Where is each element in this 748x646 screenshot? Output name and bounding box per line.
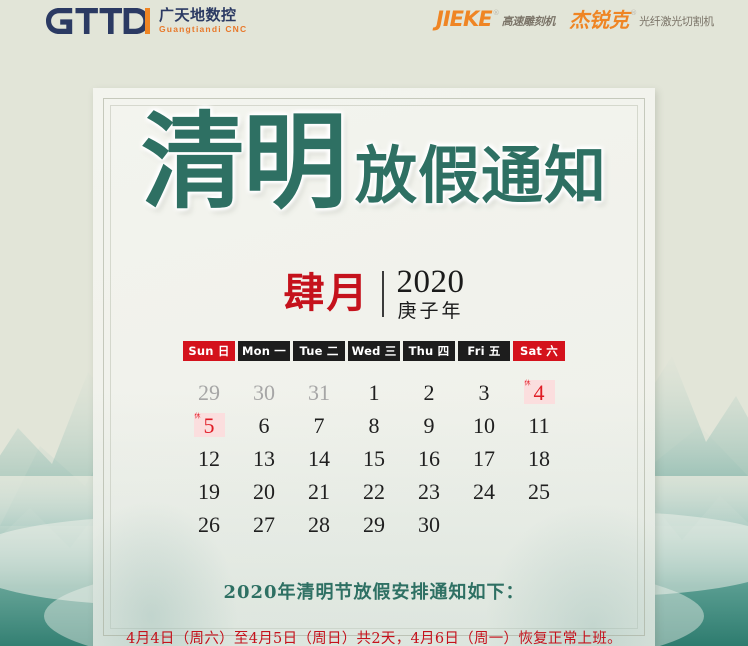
calendar-weekday-header: Sun 日Mon 一Tue 二Wed 三Thu 四Fri 五Sat 六 — [93, 341, 655, 361]
calendar-day-number: 29 — [363, 512, 385, 538]
month-cn-label: 肆月 — [284, 273, 370, 314]
jieruike-wordmark: 杰锐克 — [569, 11, 629, 30]
calendar-day-number: 2 — [424, 380, 435, 406]
calendar-day-cell[interactable]: 22 — [347, 479, 402, 505]
jieke-tagline: 高速雕刻机 — [502, 13, 556, 29]
calendar-day-cell[interactable]: 12 — [182, 446, 237, 472]
calendar-day-number: 20 — [253, 479, 275, 505]
gtdi-en-name: Guangtiandi CNC — [159, 25, 247, 34]
weekday-header-6: Sat 六 — [513, 341, 565, 361]
calendar-day-number: 1 — [369, 380, 380, 406]
calendar-day-number: 30 — [418, 512, 440, 538]
calendar-day-number: 22 — [363, 479, 385, 505]
calendar-day-number: 30 — [253, 380, 275, 406]
jieruike-tagline: 光纤激光切割机 — [639, 13, 714, 29]
month-divider — [382, 271, 384, 317]
partner-logos: JIEKE ® 高速雕刻机 杰锐克 ® 光纤激光切割机 — [436, 10, 714, 30]
calendar-week-row: 2627282930 — [182, 512, 567, 545]
calendar-day-cell[interactable]: 31 — [292, 380, 347, 406]
calendar-day-number: 18 — [528, 446, 550, 472]
calendar-day-cell[interactable]: 17 — [457, 446, 512, 472]
calendar-day-cell[interactable]: 7 — [292, 413, 347, 439]
month-bar: 肆月 2020 庚子年 — [93, 266, 655, 321]
calendar-day-number: 13 — [253, 446, 275, 472]
jieke-logo[interactable]: JIEKE ® 高速雕刻机 — [436, 10, 555, 30]
gtdi-logo[interactable]: 广天地数控 Guangtiandi CNC — [46, 8, 247, 34]
calendar-day-number: 11 — [528, 413, 549, 439]
calendar-day-number: 26 — [198, 512, 220, 538]
calendar-day-cell[interactable]: 26 — [182, 512, 237, 538]
calendar-day-cell[interactable]: 10 — [457, 413, 512, 439]
calendar-day-number: 5 — [204, 413, 215, 439]
calendar-day-cell[interactable]: 24 — [457, 479, 512, 505]
calendar-day-number: 8 — [369, 413, 380, 439]
calendar-day-number: 25 — [528, 479, 550, 505]
registered-mark-icon: ® — [493, 9, 500, 17]
calendar-day-number: 4 — [534, 380, 545, 406]
calendar-day-number: 10 — [473, 413, 495, 439]
calendar-day-number: 6 — [259, 413, 270, 439]
notice-heading: 2020年清明节放假安排通知如下： — [93, 578, 655, 604]
calendar-day-cell[interactable]: 11 — [512, 413, 567, 439]
year-block: 2020 庚子年 — [397, 266, 465, 321]
calendar-week-row: 休567891011 — [182, 413, 567, 446]
calendar-day-cell[interactable]: 25 — [512, 479, 567, 505]
ganzhi-label: 庚子年 — [397, 302, 463, 321]
headline-primary: 清明 — [141, 110, 345, 214]
poster-stage: 清明 放假通知 肆月 2020 庚子年 Sun 日Mon 一Tue 二Wed 三… — [0, 56, 748, 646]
calendar-day-number: 21 — [308, 479, 330, 505]
weekday-header-0: Sun 日 — [183, 341, 235, 361]
calendar-day-number: 29 — [198, 380, 220, 406]
calendar-day-number: 3 — [479, 380, 490, 406]
calendar-week-row: 12131415161718 — [182, 446, 567, 479]
calendar-day-number: 17 — [473, 446, 495, 472]
weekday-header-4: Thu 四 — [403, 341, 455, 361]
jieruike-logo[interactable]: 杰锐克 ® 光纤激光切割机 — [569, 11, 714, 30]
holiday-marker-icon: 休 — [195, 414, 201, 420]
calendar-day-cell[interactable]: 30 — [402, 512, 457, 538]
calendar-day-cell[interactable]: 13 — [237, 446, 292, 472]
calendar-day-cell[interactable]: 21 — [292, 479, 347, 505]
notice-text-block: 2020年清明节放假安排通知如下： 4月4日（周六）至4月5日（周日）共2天，4… — [93, 578, 655, 646]
calendar-day-number: 12 — [198, 446, 220, 472]
headline-block: 清明 放假通知 — [93, 88, 655, 268]
calendar-day-cell[interactable]: 29 — [347, 512, 402, 538]
holiday-marker-icon: 休 — [525, 381, 531, 387]
calendar-day-number: 15 — [363, 446, 385, 472]
calendar-grid[interactable]: 293031123休4休5678910111213141516171819202… — [93, 380, 655, 545]
calendar-day-number: 27 — [253, 512, 275, 538]
calendar-day-number: 31 — [308, 380, 330, 406]
calendar-day-number: 28 — [308, 512, 330, 538]
gtdi-cn-name: 广天地数控 — [159, 8, 247, 23]
calendar-day-cell[interactable]: 16 — [402, 446, 457, 472]
calendar-day-number: 9 — [424, 413, 435, 439]
calendar-day-number: 16 — [418, 446, 440, 472]
notice-body: 4月4日（周六）至4月5日（周日）共2天，4月6日（周一）恢复正常上班。 — [93, 627, 655, 646]
calendar-day-cell[interactable]: 19 — [182, 479, 237, 505]
calendar-day-cell[interactable]: 30 — [237, 380, 292, 406]
calendar-week-row: 293031123休4 — [182, 380, 567, 413]
jieke-wordmark: JIEKE — [436, 10, 492, 30]
calendar-day-cell[interactable]: 6 — [237, 413, 292, 439]
headline-secondary: 放假通知 — [355, 145, 607, 207]
calendar-day-cell[interactable]: 15 — [347, 446, 402, 472]
calendar-day-number: 24 — [473, 479, 495, 505]
calendar-day-cell[interactable]: 2 — [402, 380, 457, 406]
calendar-day-cell[interactable]: 29 — [182, 380, 237, 406]
calendar-day-cell[interactable]: 20 — [237, 479, 292, 505]
registered-mark-icon-2: ® — [630, 9, 637, 17]
calendar-week-row: 19202122232425 — [182, 479, 567, 512]
calendar-day-cell[interactable]: 8 — [347, 413, 402, 439]
calendar-day-number: 14 — [308, 446, 330, 472]
calendar-day-cell[interactable]: 1 — [347, 380, 402, 406]
calendar-day-cell[interactable]: 23 — [402, 479, 457, 505]
top-logo-banner: 广天地数控 Guangtiandi CNC JIEKE ® 高速雕刻机 杰锐克 … — [0, 0, 748, 56]
calendar-day-cell[interactable]: 9 — [402, 413, 457, 439]
calendar-day-cell[interactable]: 休5 — [182, 413, 237, 439]
calendar-day-cell[interactable]: 14 — [292, 446, 347, 472]
headline-row: 清明 放假通知 — [93, 110, 655, 214]
calendar-day-cell[interactable]: 3 — [457, 380, 512, 406]
year-number: 2020 — [397, 266, 465, 299]
calendar-day-number: 19 — [198, 479, 220, 505]
calendar-day-cell[interactable]: 28 — [292, 512, 347, 538]
notice-card: 清明 放假通知 肆月 2020 庚子年 Sun 日Mon 一Tue 二Wed 三… — [93, 88, 655, 646]
weekday-header-1: Mon 一 — [238, 341, 290, 361]
calendar-day-number: 7 — [314, 413, 325, 439]
weekday-header-5: Fri 五 — [458, 341, 510, 361]
gtdi-name-block: 广天地数控 Guangtiandi CNC — [159, 8, 247, 34]
calendar-day-number: 23 — [418, 479, 440, 505]
weekday-header-2: Tue 二 — [293, 341, 345, 361]
weekday-header-3: Wed 三 — [348, 341, 400, 361]
calendar-day-cell[interactable]: 18 — [512, 446, 567, 472]
gtdi-wordmark-icon — [46, 8, 150, 34]
calendar-day-cell[interactable]: 27 — [237, 512, 292, 538]
calendar-day-cell[interactable]: 休4 — [512, 380, 567, 406]
